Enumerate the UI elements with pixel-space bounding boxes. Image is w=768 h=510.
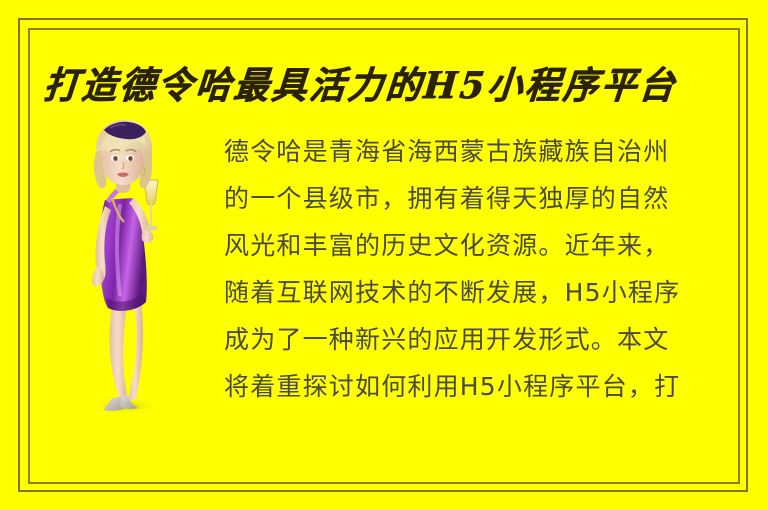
body-paragraph: 德令哈是青海省海西蒙古族藏族自治州 的一个县级市，拥有着得天独厚的自然 风光和丰…	[224, 128, 752, 410]
woman-character-illustration	[58, 118, 186, 418]
right-leg	[128, 294, 143, 400]
right-hand	[142, 230, 154, 243]
poster-title: 打造德令哈最具活力的H5小程序平台	[44, 52, 724, 112]
poster-title-text: 打造德令哈最具活力的H5小程序平台	[42, 55, 680, 109]
body-line: 将着重探讨如何利用H5小程序平台，打	[224, 363, 752, 410]
body-line: 成为了一种新兴的应用开发形式。本文	[224, 316, 752, 363]
body-line: 德令哈是青海省海西蒙古族藏族自治州	[224, 128, 752, 175]
character-svg	[58, 118, 186, 418]
body-line: 的一个县级市，拥有着得天独厚的自然	[224, 175, 752, 222]
right-pupil	[128, 156, 132, 161]
body-line: 风光和丰富的历史文化资源。近年来，	[224, 222, 752, 269]
body-line: 随着互联网技术的不断发展，H5小程序	[224, 269, 752, 316]
left-pupil	[113, 156, 117, 161]
poster-canvas: 打造德令哈最具活力的H5小程序平台	[0, 0, 768, 510]
